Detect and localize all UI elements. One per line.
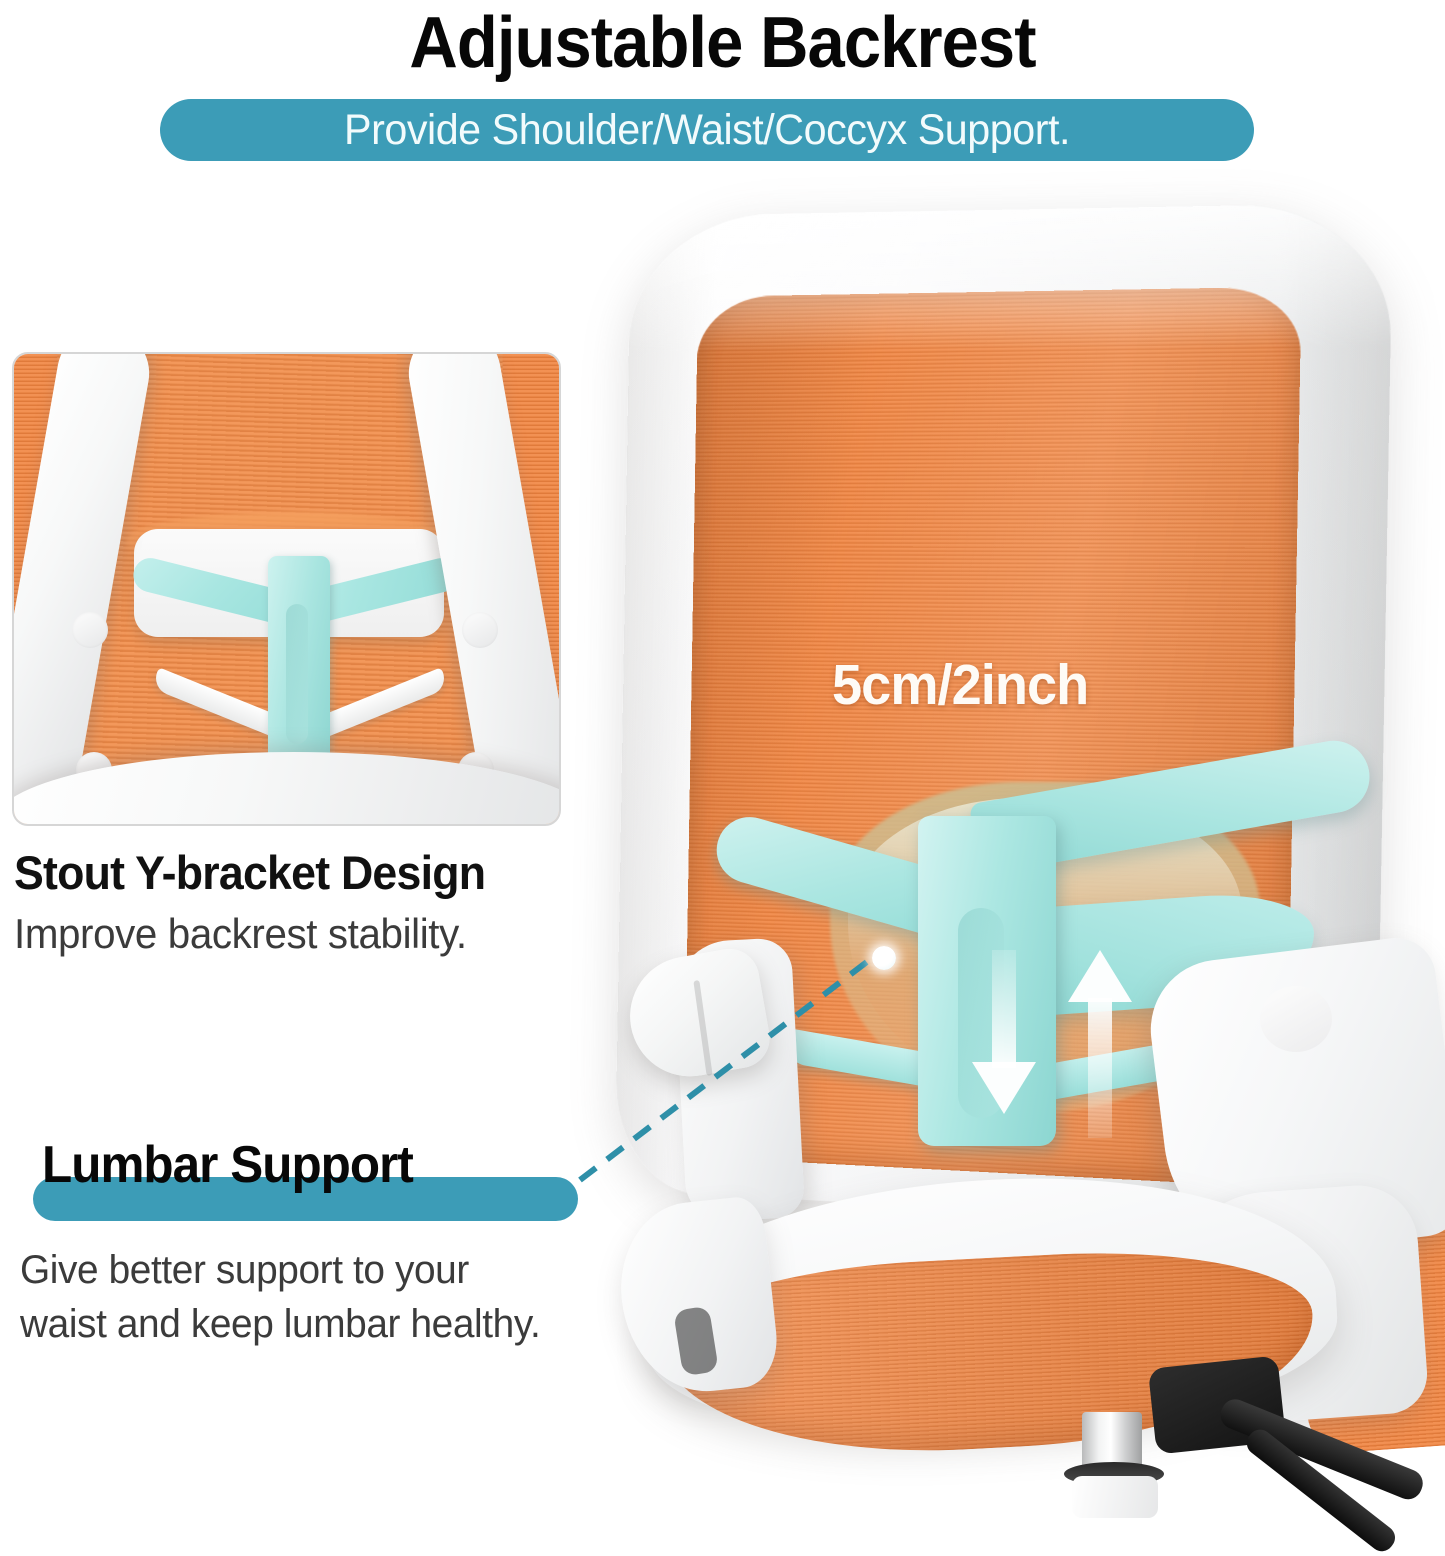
arrow-up-icon — [1068, 950, 1132, 1002]
inset-hook-left — [151, 667, 285, 738]
arrow-down-icon — [972, 1062, 1036, 1114]
armrest-right-cap — [1260, 986, 1332, 1052]
lumbar-subtext: Give better support to your waist and ke… — [20, 1243, 602, 1351]
arrow-up-stem — [1088, 998, 1112, 1138]
arrow-down-stem — [992, 950, 1016, 1068]
subtitle-text: Provide Shoulder/Waist/Coccyx Support. — [182, 99, 1232, 161]
chair-product-photo: 5cm/2inch — [560, 180, 1445, 1449]
inset-knob-left-upper — [72, 612, 108, 648]
lumbar-support-block: Lumbar Support Give better support to yo… — [0, 1125, 640, 1355]
ybracket-closeup-panel — [12, 352, 561, 826]
lumbar-subtext-line2: waist and keep lumbar healthy. — [20, 1297, 602, 1351]
cylinder-cover — [1072, 1476, 1158, 1518]
ybracket-subtext: Improve backrest stability. — [14, 910, 467, 958]
subtitle-pill: Provide Shoulder/Waist/Coccyx Support. — [160, 99, 1254, 161]
lumbar-heading: Lumbar Support — [42, 1135, 413, 1195]
lumbar-leader-endpoint — [872, 946, 896, 970]
page-title: Adjustable Backrest — [51, 2, 1395, 84]
lumbar-subtext-line1: Give better support to your — [20, 1243, 602, 1297]
dimension-label: 5cm/2inch — [832, 652, 1088, 718]
ybracket-closeup-image — [14, 354, 559, 824]
inset-hook-right — [315, 667, 449, 738]
header-banner: Adjustable Backrest Provide Shoulder/Wai… — [0, 0, 1445, 175]
inset-knob-right-upper — [462, 612, 498, 648]
ybracket-heading: Stout Y-bracket Design — [14, 845, 485, 900]
inset-y-stem-groove — [286, 604, 308, 744]
